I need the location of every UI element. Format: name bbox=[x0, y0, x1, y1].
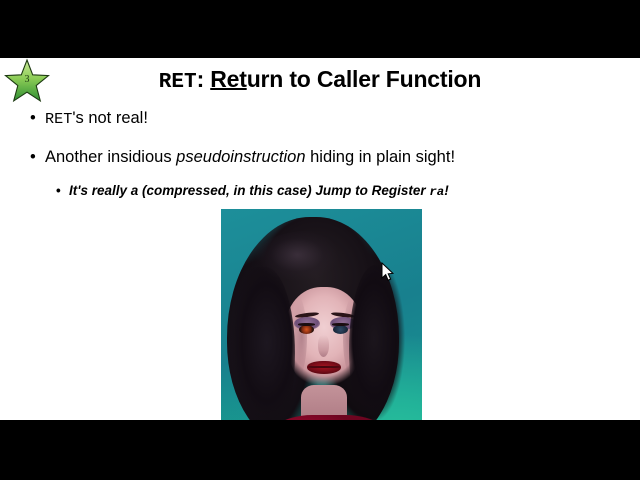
list-item: •RET's not real! bbox=[28, 108, 628, 129]
photo-lash-left bbox=[298, 323, 315, 326]
photo-hair-front-right bbox=[349, 265, 415, 420]
bullet-1-mono-lead: RET bbox=[45, 110, 72, 128]
presentation-slide: 3 RET: Return to Caller Function •RET's … bbox=[0, 58, 640, 420]
photo-nose bbox=[318, 335, 329, 357]
portrait-photo bbox=[221, 209, 422, 420]
bullet-list: •RET's not real! •Another insidious pseu… bbox=[28, 108, 628, 200]
photo-hair-highlight bbox=[251, 231, 361, 301]
title-mono-part: RET bbox=[159, 71, 197, 94]
letterbox-top-bar bbox=[0, 0, 640, 58]
list-item: •Another insidious pseudoinstruction hid… bbox=[28, 147, 628, 168]
bullet-3-mono-part: ra bbox=[429, 185, 444, 199]
photo-eye-left bbox=[299, 325, 314, 334]
photo-lash-right bbox=[332, 323, 349, 326]
list-item: •It's really a (compressed, in this case… bbox=[55, 183, 628, 201]
bullet-marker: • bbox=[30, 108, 36, 129]
letterbox-bottom-bar bbox=[0, 420, 640, 480]
bullet-marker: • bbox=[30, 147, 36, 168]
bullet-1-text: 's not real! bbox=[72, 109, 148, 127]
video-frame: 3 RET: Return to Caller Function •RET's … bbox=[0, 0, 640, 480]
title-colon: : bbox=[197, 66, 204, 92]
photo-lip-line bbox=[307, 366, 341, 368]
bullet-2-text-before: Another insidious bbox=[45, 148, 176, 166]
bullet-2-text-after: hiding in plain sight! bbox=[306, 148, 456, 166]
bullet-2-italic-part: pseudoinstruction bbox=[176, 148, 305, 166]
title-rest: urn to Caller Function bbox=[247, 66, 482, 92]
bullet-3-text-after: ! bbox=[444, 183, 449, 198]
page-title: RET: Return to Caller Function bbox=[0, 66, 640, 94]
photo-eye-right bbox=[333, 325, 348, 334]
title-underlined-part: Ret bbox=[210, 66, 246, 92]
bullet-marker: • bbox=[56, 183, 61, 200]
bullet-3-text-before: It's really a (compressed, in this case)… bbox=[69, 183, 429, 198]
